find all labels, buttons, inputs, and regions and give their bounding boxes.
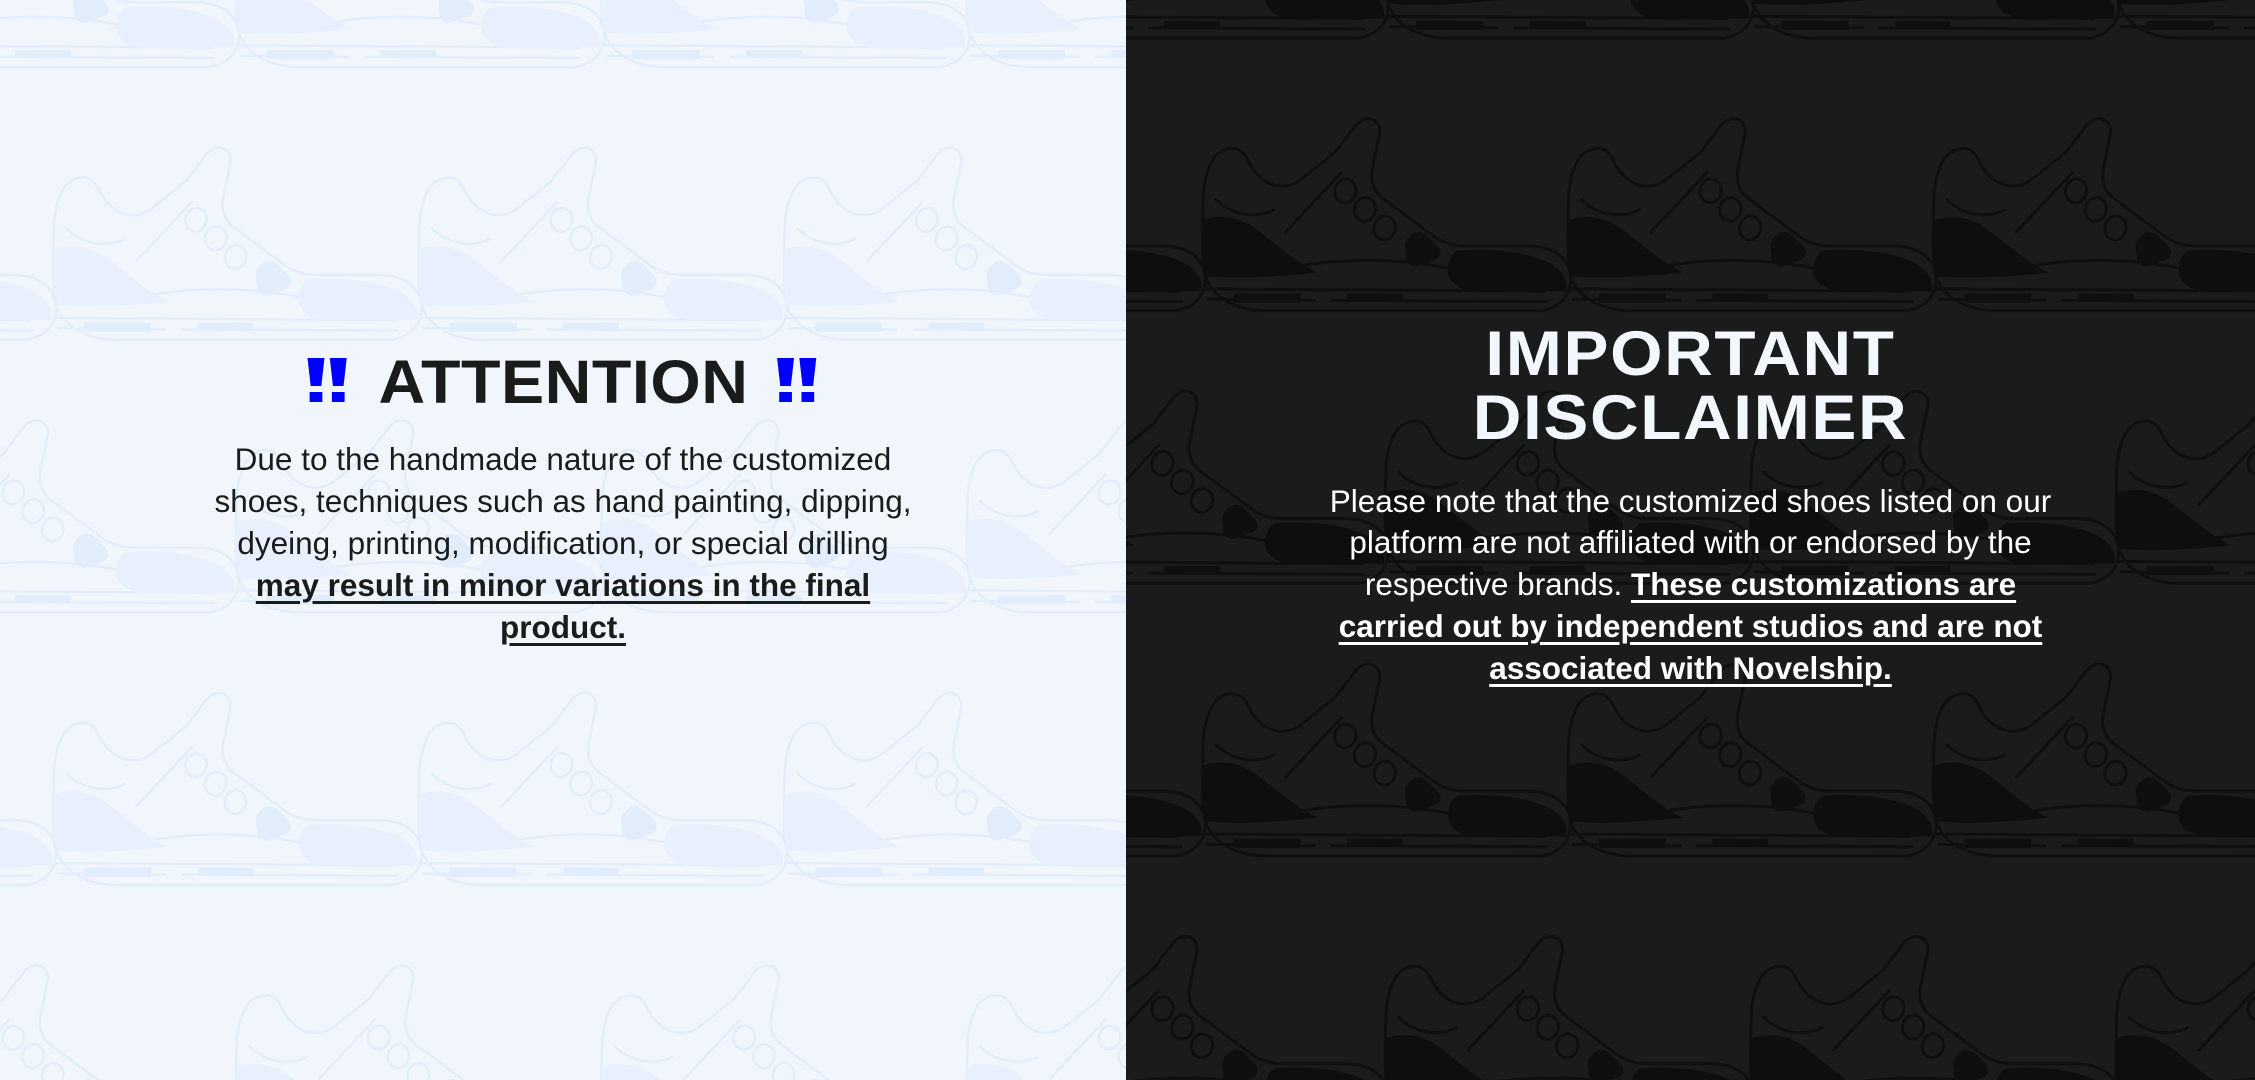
attention-body-emphasis: may result in minor variations in the fi… [256, 567, 870, 645]
disclaimer-heading-line2: DISCLAIMER [1473, 383, 1908, 453]
attention-body-normal: Due to the handmade nature of the custom… [215, 441, 912, 561]
double-exclamation-mark-icon-right [776, 356, 821, 404]
split-banner: ATTENTION Due to the handmade nature of … [0, 0, 2255, 1080]
attention-panel: ATTENTION Due to the handmade nature of … [0, 0, 1126, 1080]
disclaimer-content: IMPORTANT DISCLAIMER Please note that th… [1126, 0, 2255, 690]
important-disclaimer-panel: IMPORTANT DISCLAIMER Please note that th… [1126, 0, 2255, 1080]
double-exclamation-mark-icon-left [306, 356, 351, 404]
disclaimer-heading: IMPORTANT DISCLAIMER [1473, 322, 1908, 451]
disclaimer-body: Please note that the customized shoes li… [1311, 481, 2071, 690]
attention-body: Due to the handmade nature of the custom… [213, 439, 913, 648]
disclaimer-heading-line1: IMPORTANT [1485, 319, 1895, 389]
attention-heading-label: ATTENTION [378, 352, 748, 413]
attention-heading: ATTENTION [306, 352, 820, 413]
attention-content: ATTENTION Due to the handmade nature of … [0, 0, 1126, 648]
